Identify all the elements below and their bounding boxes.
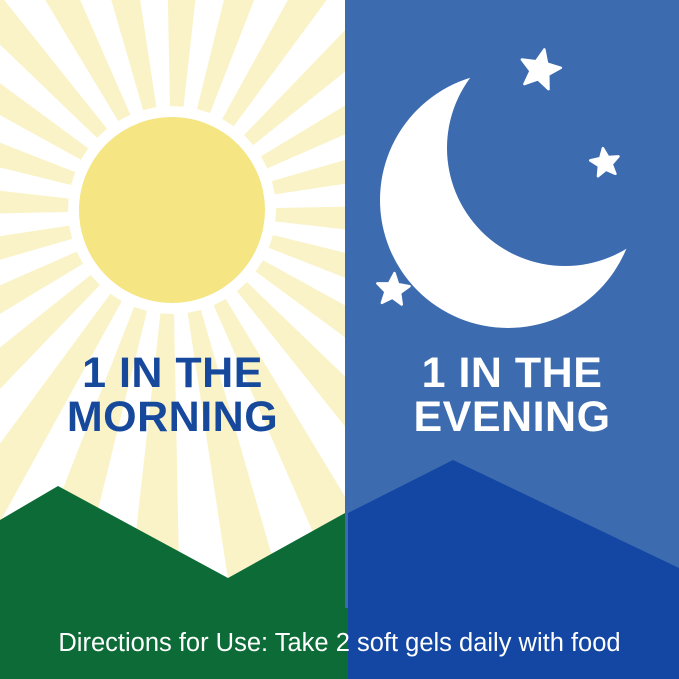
evening-headline-line-1: 1 IN THE <box>345 351 679 395</box>
directions-bar: Directions for Use: Take 2 soft gels dai… <box>0 608 679 679</box>
evening-headline: 1 IN THE EVENING <box>345 351 679 440</box>
morning-headline-line-1: 1 IN THE <box>0 351 345 395</box>
crescent-moon-icon <box>345 0 679 679</box>
sun-group <box>0 0 345 679</box>
night-sky-group <box>345 0 679 679</box>
directions-text: Directions for Use: Take 2 soft gels dai… <box>0 608 679 679</box>
morning-headline-line-2: MORNING <box>0 395 345 439</box>
two-panel-dosage-graphic: 1 IN THE MORNING 1 IN THE EVENING Direct… <box>0 0 679 679</box>
evening-panel <box>345 0 679 679</box>
morning-headline: 1 IN THE MORNING <box>0 351 345 440</box>
sun-disc-icon <box>79 117 265 303</box>
morning-panel <box>0 0 345 679</box>
evening-headline-line-2: EVENING <box>345 395 679 439</box>
